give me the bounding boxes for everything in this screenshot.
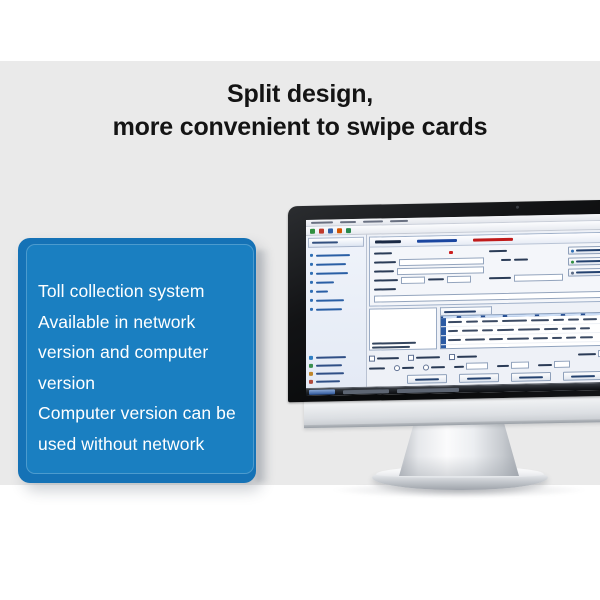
text-input[interactable]: [397, 266, 484, 275]
records-grid[interactable]: [440, 311, 600, 349]
background-top-band: [0, 0, 600, 61]
table-cell: [466, 320, 478, 322]
print-icon[interactable]: [337, 228, 342, 233]
checkbox-option-3[interactable]: [449, 353, 477, 360]
bullet-icon: [310, 281, 313, 284]
table-cell: [518, 328, 540, 330]
field-row-4[interactable]: [374, 275, 484, 283]
table-cell: [566, 337, 576, 339]
module-icon: [309, 364, 313, 368]
bullet-icon: [310, 299, 313, 302]
headline-line-1: Split design,: [0, 78, 600, 111]
table-cell: [482, 320, 498, 322]
callout-line-1: Toll collection system: [38, 276, 264, 307]
callout-line-6: used without network: [38, 429, 264, 460]
menu-item-help[interactable]: [390, 220, 408, 222]
callout-line-2: Available in network: [38, 307, 264, 338]
table-cell: [497, 329, 514, 331]
headline-line-2: more convenient to swipe cards: [0, 111, 600, 144]
menu-item-file[interactable]: [311, 221, 333, 223]
records-grid-wrapper: [440, 303, 600, 349]
checkbox-option-2[interactable]: [408, 354, 440, 361]
form-title-secondary: [417, 239, 457, 243]
table-cell: [580, 327, 590, 329]
table-cell: [532, 346, 552, 348]
field-row-1[interactable]: [374, 248, 484, 256]
field-row-5[interactable]: [374, 284, 484, 292]
bullet-icon: [310, 263, 313, 266]
table-cell: [531, 319, 549, 321]
start-button[interactable]: [309, 389, 335, 395]
photo-preview-caption: [370, 340, 436, 349]
sidebar-header: [308, 237, 364, 248]
form-title-primary: [375, 240, 401, 244]
sidebar-shortcut-4[interactable]: [309, 377, 364, 386]
taskbar-window-1[interactable]: [343, 389, 389, 394]
monitor-screen: [306, 213, 600, 396]
bullet-icon: [310, 308, 313, 311]
row-selector[interactable]: [441, 345, 446, 349]
bullet-icon: [310, 254, 313, 257]
radio-option-1[interactable]: [394, 364, 414, 370]
table-cell: [533, 337, 548, 339]
filter-dropdown[interactable]: [578, 349, 600, 357]
module-icon: [309, 372, 313, 376]
table-cell: [553, 319, 564, 321]
table-cell: [478, 347, 496, 349]
exit-icon[interactable]: [346, 228, 351, 233]
form-actions: [568, 245, 600, 288]
table-cell: [568, 318, 579, 320]
table-cell: [552, 337, 562, 339]
text-input[interactable]: [447, 275, 471, 282]
table-cell: [448, 321, 462, 323]
amount-field[interactable]: [454, 362, 488, 370]
field-row-2[interactable]: [374, 257, 484, 265]
table-cell: [482, 329, 493, 331]
grid-body[interactable]: [441, 314, 600, 349]
confirm-button[interactable]: [407, 374, 447, 384]
field-row-6[interactable]: [489, 247, 563, 254]
bullet-icon: [310, 272, 313, 275]
text-input[interactable]: [554, 361, 570, 368]
print-button[interactable]: [459, 373, 499, 383]
row-selector[interactable]: [441, 336, 446, 344]
form-fields: [370, 242, 600, 295]
menu-item-tools[interactable]: [363, 220, 383, 222]
form-title-alert: [473, 238, 513, 242]
table-cell: [448, 330, 458, 332]
close-button[interactable]: [563, 371, 600, 381]
promo-banner: Split design, more convenient to swipe c…: [0, 0, 600, 600]
table-cell: [583, 318, 597, 320]
table-cell: [448, 348, 456, 349]
new-icon[interactable]: [310, 228, 315, 233]
total-field[interactable]: [538, 361, 570, 369]
module-icon: [309, 380, 313, 384]
field-row-7[interactable]: [489, 256, 563, 263]
field-row-3[interactable]: [374, 266, 484, 274]
export-button[interactable]: [511, 372, 551, 382]
form-bottom-controls: [369, 347, 600, 384]
table-cell: [489, 338, 503, 340]
dialog-buttons: [369, 369, 600, 384]
discount-field[interactable]: [497, 361, 529, 369]
bullet-icon: [310, 290, 313, 293]
sidebar-footer[interactable]: [306, 352, 366, 388]
webcam-icon: [516, 206, 519, 209]
text-input[interactable]: [466, 362, 488, 369]
photo-preview-area[interactable]: [370, 308, 436, 341]
field-row-10[interactable]: [489, 283, 563, 290]
form-column-left: [374, 248, 484, 292]
query-button[interactable]: [568, 245, 600, 254]
table-cell: [556, 346, 569, 348]
add-button[interactable]: [568, 256, 600, 265]
monitor-bezel: [288, 200, 600, 403]
table-cell: [448, 339, 461, 341]
field-row-9[interactable]: [489, 274, 563, 281]
sidebar-item-7[interactable]: [310, 304, 364, 314]
checkbox-option-1[interactable]: [369, 355, 399, 362]
app-main-panel: [367, 229, 600, 387]
photo-preview[interactable]: [369, 307, 437, 350]
row-selector[interactable]: [441, 327, 446, 335]
form-lower-area: [369, 303, 600, 350]
table-cell: [465, 338, 485, 340]
text-input[interactable]: [511, 361, 529, 368]
required-marker: [449, 251, 453, 254]
callout-line-3: version and computer: [38, 337, 264, 368]
text-input[interactable]: [399, 257, 484, 266]
headline: Split design, more convenient to swipe c…: [0, 78, 600, 144]
app-sidebar[interactable]: [306, 235, 367, 388]
form-column-mid: [489, 247, 563, 290]
callout-line-4: version: [38, 368, 264, 399]
open-icon[interactable]: [319, 228, 324, 233]
row-selector[interactable]: [441, 318, 446, 326]
table-cell: [580, 336, 593, 338]
menu-item-edit[interactable]: [340, 221, 356, 223]
table-cell: [573, 345, 586, 347]
table-cell: [507, 337, 529, 339]
field-row-8[interactable]: [489, 265, 563, 272]
record-form: [369, 231, 600, 306]
text-input[interactable]: [401, 276, 425, 283]
callout-line-5: Computer version can be: [38, 398, 264, 429]
app-body: [306, 229, 600, 388]
taskbar-window-2[interactable]: [397, 387, 459, 392]
radio-option-2[interactable]: [423, 364, 445, 370]
table-cell: [544, 328, 558, 330]
group-label: [369, 367, 385, 369]
table-cell: [502, 320, 527, 323]
table-cell: [562, 328, 576, 330]
callout-text: Toll collection system Available in netw…: [38, 276, 264, 459]
save-icon[interactable]: [328, 228, 333, 233]
table-cell: [460, 348, 474, 350]
module-icon: [309, 356, 313, 360]
table-cell: [590, 345, 598, 347]
desktop-monitor: [264, 186, 600, 506]
refresh-button[interactable]: [568, 267, 600, 276]
table-cell: [462, 329, 478, 331]
sidebar-tree[interactable]: [306, 248, 366, 353]
text-input[interactable]: [514, 273, 563, 281]
